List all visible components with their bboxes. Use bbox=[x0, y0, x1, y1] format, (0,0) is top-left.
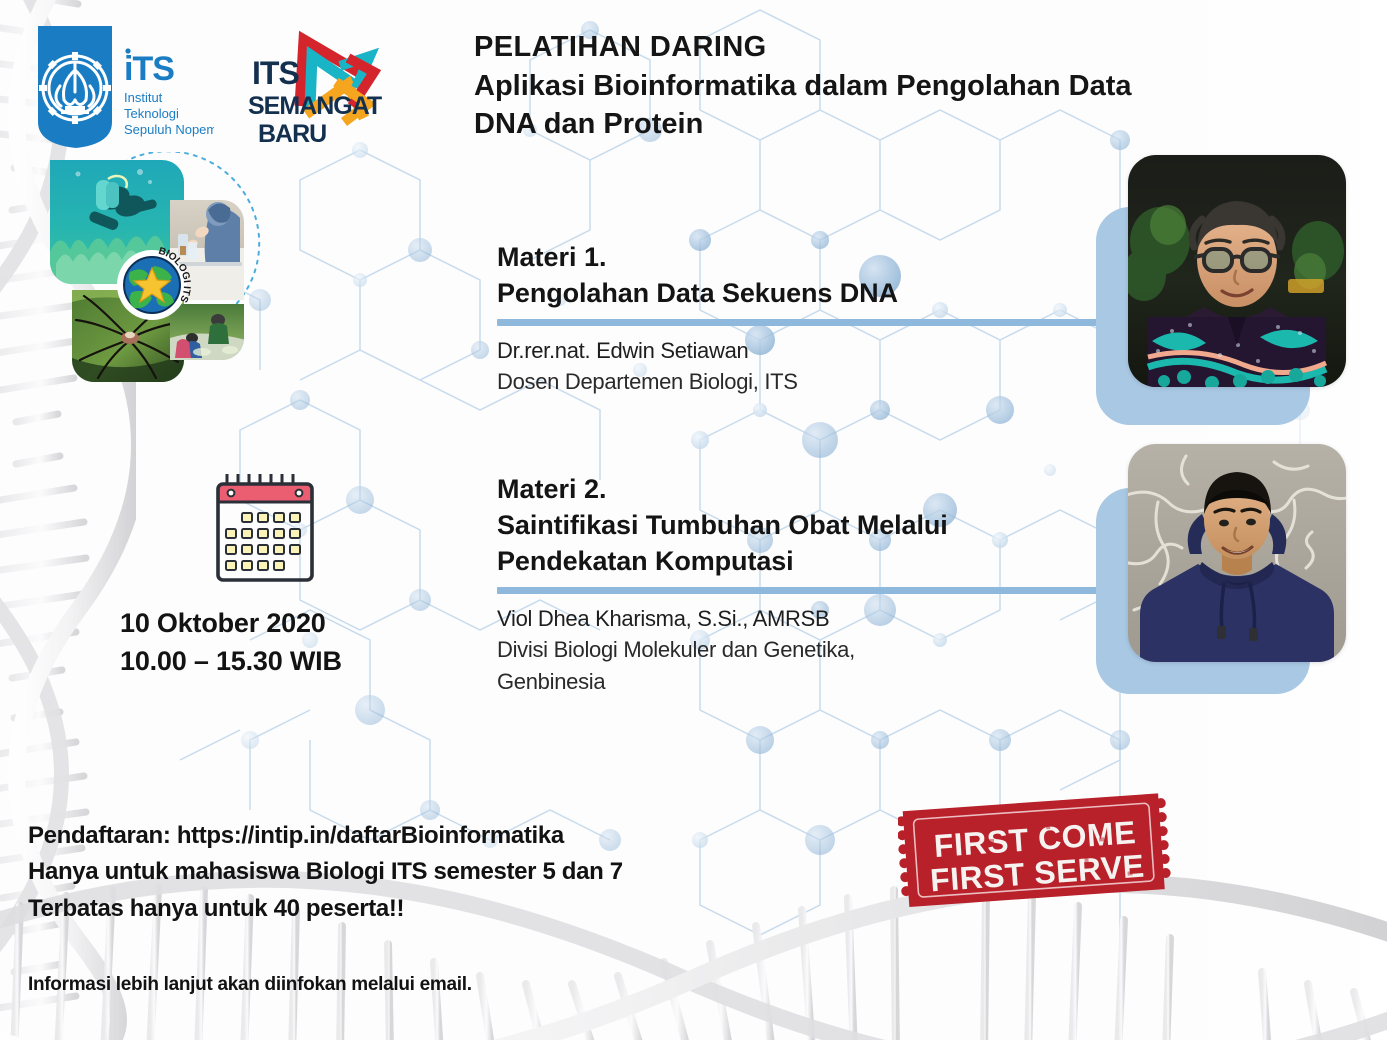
session-2-topic-line-1: Saintifikasi Tumbuhan Obat Melalui bbox=[497, 508, 1127, 544]
poster-canvas: iTS Institut Teknologi Sepuluh Nopember … bbox=[0, 0, 1387, 1040]
photo-2-portrait bbox=[1128, 444, 1346, 662]
event-date: 10 Oktober 2020 bbox=[120, 604, 450, 642]
session-2-topic-line-2: Pendekatan Komputasi bbox=[497, 544, 1127, 580]
session-2-speaker: Viol Dhea Kharisma, S.Si., AMRSB Divisi … bbox=[497, 603, 1127, 698]
session-1-speaker: Dr.rer.nat. Edwin Setiawan Dosen Departe… bbox=[497, 335, 1127, 398]
session-1-topic: Pengolahan Data Sekuens DNA bbox=[497, 276, 1127, 312]
its-logo: iTS Institut Teknologi Sepuluh Nopember bbox=[36, 26, 214, 148]
title-line-2: Aplikasi Bioinformatika dalam Pengolahan… bbox=[474, 67, 1304, 106]
registration-line-1[interactable]: Pendaftaran: https://intip.in/daftarBioi… bbox=[28, 818, 788, 854]
its-logo-svg: iTS Institut Teknologi Sepuluh Nopember bbox=[36, 26, 214, 148]
svg-text:ITS: ITS bbox=[252, 55, 299, 91]
session-1-speaker-affiliation: Dosen Departemen Biologi, ITS bbox=[497, 366, 1127, 398]
svg-text:Sepuluh Nopember: Sepuluh Nopember bbox=[124, 122, 214, 137]
registration-line-3: Terbatas hanya untuk 40 peserta!! bbox=[28, 891, 788, 927]
session-2-label: Materi 2. bbox=[497, 472, 1127, 508]
footer-note: Informasi lebih lanjut akan diinfokan me… bbox=[28, 974, 788, 996]
svg-text:BARU: BARU bbox=[258, 120, 326, 148]
registration-line-2: Hanya untuk mahasiswa Biologi ITS semest… bbox=[28, 854, 788, 890]
title-line-1: PELATIHAN DARING bbox=[474, 28, 1304, 67]
speaker-photo-viol-dhea-kharisma bbox=[1096, 444, 1346, 694]
session-1-speaker-name: Dr.rer.nat. Edwin Setiawan bbox=[497, 335, 1127, 367]
registration-info: Pendaftaran: https://intip.in/daftarBioi… bbox=[28, 818, 788, 927]
first-come-first-serve-stamp: FIRST COME FIRST SERVE bbox=[898, 792, 1174, 916]
poster-title: PELATIHAN DARING Aplikasi Bioinformatika… bbox=[474, 28, 1304, 144]
collage-svg: BIOLOGI ITS bbox=[22, 152, 284, 390]
session-block-1: Materi 1. Pengolahan Data Sekuens DNA Dr… bbox=[497, 240, 1127, 398]
svg-text:Teknologi: Teknologi bbox=[124, 106, 179, 121]
photo-2-frame bbox=[1128, 444, 1346, 662]
session-2-speaker-affiliation: Divisi Biologi Molekuler dan Genetika, bbox=[497, 634, 1127, 666]
session-2-divider bbox=[497, 587, 1104, 594]
session-1-label: Materi 1. bbox=[497, 240, 1127, 276]
event-time: 10.00 – 15.30 WIB bbox=[120, 642, 450, 680]
calendar-icon-svg bbox=[205, 468, 325, 590]
speaker-photo-edwin-setiawan bbox=[1096, 155, 1346, 425]
event-date-time: 10 Oktober 2020 10.00 – 15.30 WIB bbox=[120, 604, 450, 681]
title-line-3: DNA dan Protein bbox=[474, 105, 1304, 144]
svg-text:iTS: iTS bbox=[124, 50, 174, 88]
stamp-svg: FIRST COME FIRST SERVE bbox=[898, 792, 1174, 916]
session-block-2: Materi 2. Saintifikasi Tumbuhan Obat Mel… bbox=[497, 472, 1127, 698]
field-research-photo bbox=[170, 304, 246, 360]
svg-text:Institut: Institut bbox=[124, 90, 163, 105]
session-1-divider bbox=[497, 319, 1104, 326]
photo-1-frame bbox=[1128, 155, 1346, 387]
photo-1-portrait bbox=[1128, 155, 1346, 387]
its-semangat-baru-logo: ITS SEMANGAT BARU bbox=[244, 22, 390, 148]
semangat-baru-svg: ITS SEMANGAT BARU bbox=[244, 22, 390, 148]
biology-photo-collage: BIOLOGI ITS bbox=[22, 152, 284, 390]
calendar-icon bbox=[205, 468, 325, 590]
svg-text:SEMANGAT: SEMANGAT bbox=[248, 92, 382, 120]
session-2-speaker-affiliation-2: Genbinesia bbox=[497, 666, 1127, 698]
session-2-speaker-name: Viol Dhea Kharisma, S.Si., AMRSB bbox=[497, 603, 1127, 635]
